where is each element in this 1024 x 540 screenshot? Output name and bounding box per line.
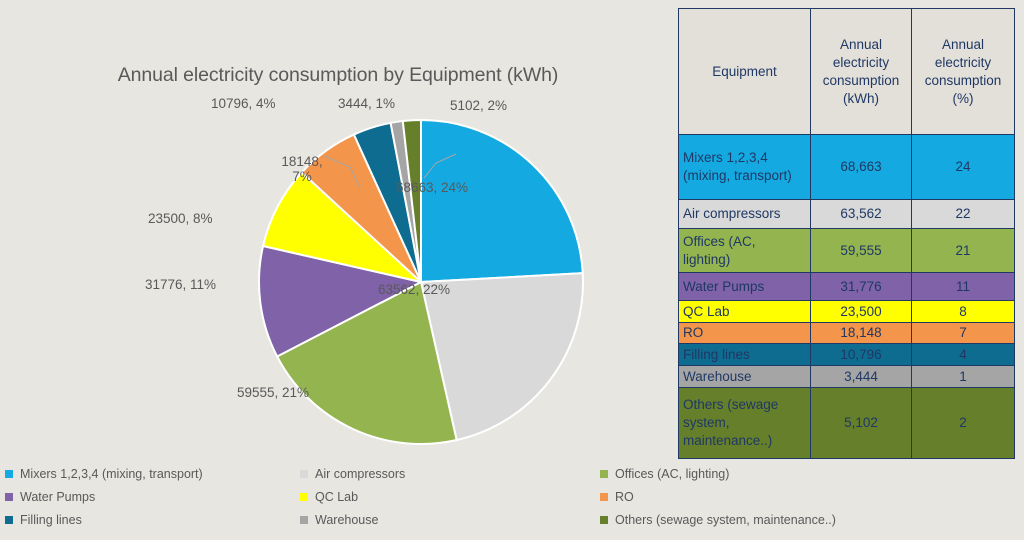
legend-item-label: RO (615, 490, 634, 504)
pie-label-pumps: 31776, 11% (145, 277, 216, 292)
legend-item[interactable]: Water Pumps (5, 488, 95, 506)
legend-item[interactable]: Offices (AC, lighting) (600, 465, 729, 483)
table-cell-equipment: QC Lab (679, 301, 811, 323)
table-header-kwh-line-4: (kWh) (815, 90, 907, 108)
legend-item-label: Water Pumps (20, 490, 95, 504)
legend-swatch-icon (300, 516, 308, 524)
legend-swatch-icon (600, 516, 608, 524)
legend-item[interactable]: Filling lines (5, 511, 82, 529)
legend-item-label: Air compressors (315, 467, 405, 481)
table-header-row: Equipment Annual electricity consumption… (679, 9, 1015, 135)
legend-swatch-icon (300, 470, 308, 478)
table-cell-kwh: 10,796 (811, 344, 912, 366)
pie-label-air: 63562, 22% (378, 282, 450, 297)
table-row[interactable]: Air compressors63,56222 (679, 200, 1015, 229)
table-cell-equipment: Air compressors (679, 200, 811, 229)
equipment-table-panel: Equipment Annual electricity consumption… (678, 8, 1014, 466)
table-header-pct-line-4: (%) (916, 90, 1010, 108)
table-row[interactable]: Others (sewage system, maintenance..)5,1… (679, 388, 1015, 459)
legend-item[interactable]: Others (sewage system, maintenance..) (600, 511, 836, 529)
table-cell-percent: 21 (912, 229, 1015, 273)
table-header-pct-line-1: Annual (916, 36, 1010, 54)
table-cell-equipment: Filling lines (679, 344, 811, 366)
legend-item-label: Others (sewage system, maintenance..) (615, 513, 836, 527)
legend-item-label: QC Lab (315, 490, 358, 504)
table-cell-equipment: Offices (AC, lighting) (679, 229, 811, 273)
table-cell-kwh: 18,148 (811, 323, 912, 344)
legend-item-label: Filling lines (20, 513, 82, 527)
table-header-pct: Annual electricity consumption (%) (912, 9, 1015, 135)
legend-swatch-icon (300, 493, 308, 501)
table-row[interactable]: Water Pumps31,77611 (679, 273, 1015, 301)
table-row[interactable]: QC Lab23,5008 (679, 301, 1015, 323)
legend-item-label: Offices (AC, lighting) (615, 467, 729, 481)
table-header-pct-line-3: consumption (916, 72, 1010, 90)
table-cell-percent: 4 (912, 344, 1015, 366)
pie-label-warehouse: 3444, 1% (338, 96, 395, 111)
table-cell-kwh: 23,500 (811, 301, 912, 323)
pie-label-others: 5102, 2% (450, 98, 507, 113)
table-cell-kwh: 68,663 (811, 135, 912, 200)
table-cell-percent: 22 (912, 200, 1015, 229)
pie-slice (421, 120, 583, 282)
table-cell-equipment: Warehouse (679, 366, 811, 388)
table-header-equipment: Equipment (679, 9, 811, 135)
table-cell-equipment: Water Pumps (679, 273, 811, 301)
table-row[interactable]: Offices (AC, lighting)59,55521 (679, 229, 1015, 273)
table-header-kwh-line-3: consumption (815, 72, 907, 90)
table-cell-percent: 2 (912, 388, 1015, 459)
legend-item[interactable]: QC Lab (300, 488, 358, 506)
table-cell-kwh: 3,444 (811, 366, 912, 388)
legend-swatch-icon (600, 493, 608, 501)
table-header-kwh-line-1: Annual (815, 36, 907, 54)
legend-item[interactable]: Mixers 1,2,3,4 (mixing, transport) (5, 465, 203, 483)
table-row[interactable]: Mixers 1,2,3,4 (mixing, transport)68,663… (679, 135, 1015, 200)
table-header-kwh: Annual electricity consumption (kWh) (811, 9, 912, 135)
pie-label-ro-line1: 18148, (275, 154, 329, 169)
legend-item[interactable]: Warehouse (300, 511, 378, 529)
legend-item[interactable]: Air compressors (300, 465, 405, 483)
legend-swatch-icon (5, 493, 13, 501)
pie-label-ro-line2: 7% (275, 169, 329, 184)
legend-item[interactable]: RO (600, 488, 634, 506)
pie-chart: 68663, 24% 63562, 22% 59555, 21% 31776, … (0, 96, 676, 456)
legend-swatch-icon (600, 470, 608, 478)
table-cell-kwh: 5,102 (811, 388, 912, 459)
chart-title: Annual electricity consumption by Equipm… (0, 64, 676, 87)
table-row[interactable]: RO18,1487 (679, 323, 1015, 344)
table-cell-equipment: RO (679, 323, 811, 344)
pie-label-offices: 59555, 21% (237, 385, 309, 400)
legend-swatch-icon (5, 470, 13, 478)
table-cell-percent: 24 (912, 135, 1015, 200)
table-cell-percent: 7 (912, 323, 1015, 344)
table-row[interactable]: Filling lines10,7964 (679, 344, 1015, 366)
table-cell-equipment: Others (sewage system, maintenance..) (679, 388, 811, 459)
legend-item-label: Mixers 1,2,3,4 (mixing, transport) (20, 467, 203, 481)
pie-label-mixers: 68663, 24% (396, 180, 468, 195)
table-header-equipment-text: Equipment (712, 64, 777, 79)
table-header-kwh-line-2: electricity (815, 54, 907, 72)
legend-swatch-icon (5, 516, 13, 524)
pie-chart-panel: Annual electricity consumption by Equipm… (0, 0, 676, 540)
table-cell-percent: 11 (912, 273, 1015, 301)
table-cell-kwh: 31,776 (811, 273, 912, 301)
chart-legend: Mixers 1,2,3,4 (mixing, transport)Air co… (0, 462, 1024, 532)
pie-svg (0, 96, 676, 456)
equipment-table: Equipment Annual electricity consumption… (678, 8, 1015, 459)
table-cell-percent: 8 (912, 301, 1015, 323)
legend-item-label: Warehouse (315, 513, 378, 527)
pie-label-filling: 10796, 4% (211, 96, 276, 111)
table-row[interactable]: Warehouse3,4441 (679, 366, 1015, 388)
pie-label-qc: 23500, 8% (148, 211, 213, 226)
equipment-table-body: Mixers 1,2,3,4 (mixing, transport)68,663… (679, 135, 1015, 459)
table-cell-kwh: 59,555 (811, 229, 912, 273)
table-cell-equipment: Mixers 1,2,3,4 (mixing, transport) (679, 135, 811, 200)
table-cell-kwh: 63,562 (811, 200, 912, 229)
table-header-pct-line-2: electricity (916, 54, 1010, 72)
table-cell-percent: 1 (912, 366, 1015, 388)
